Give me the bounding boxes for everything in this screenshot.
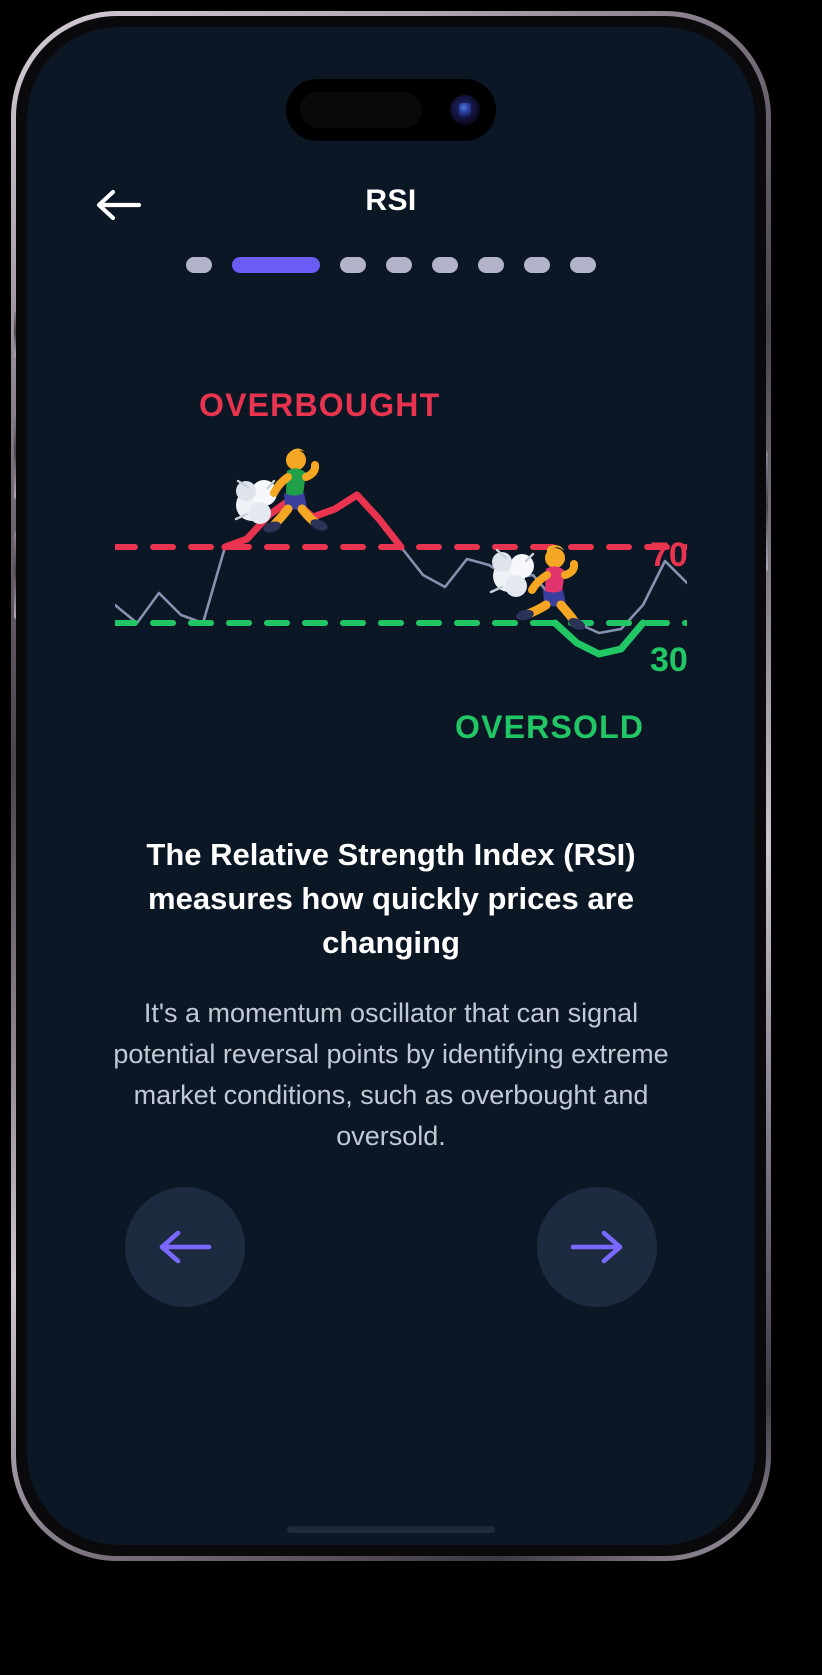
rsi-price-line [115,495,687,633]
app-header: RSI [27,162,755,252]
phone-frame: RSI OVERBOUGHT [11,11,771,1561]
pagination-dot-4[interactable] [386,257,412,273]
pagination-dots [27,257,755,273]
headline-text: The Relative Strength Index (RSI) measur… [123,833,659,965]
phone-bezel: RSI OVERBOUGHT [16,16,766,1556]
oversold-level-label: 30 [650,641,688,680]
runner-upper-icon [232,447,328,539]
page-title: RSI [27,184,755,218]
body-text: It's a momentum oscillator that can sign… [107,993,675,1157]
overbought-label: OVERBOUGHT [199,387,440,424]
previous-slide-button[interactable] [125,1187,245,1307]
next-slide-button[interactable] [537,1187,657,1307]
pagination-dot-1[interactable] [186,257,212,273]
dynamic-island [286,79,496,141]
pagination-dot-2-active[interactable] [232,257,320,273]
pagination-dot-7[interactable] [524,257,550,273]
front-camera-icon [450,95,480,125]
phone-screen: RSI OVERBOUGHT [27,27,755,1545]
pagination-dot-3[interactable] [340,257,366,273]
arrow-left-icon [157,1227,213,1267]
home-indicator [287,1526,495,1533]
oversold-label: OVERSOLD [455,709,644,746]
pagination-dot-6[interactable] [478,257,504,273]
dust-puff-icon [236,480,277,524]
carousel-navigation [27,1187,755,1311]
pagination-dot-8[interactable] [570,257,596,273]
arrow-right-icon [569,1227,625,1267]
runner-lower-icon [489,542,585,634]
dust-puff-icon [491,550,534,597]
rsi-illustration: OVERBOUGHT [27,367,755,767]
pagination-dot-5[interactable] [432,257,458,273]
speaker-slot [300,92,422,128]
rsi-chart [115,437,687,697]
screenshot-root: RSI OVERBOUGHT [0,0,822,1675]
overbought-level-label: 70 [650,536,688,575]
